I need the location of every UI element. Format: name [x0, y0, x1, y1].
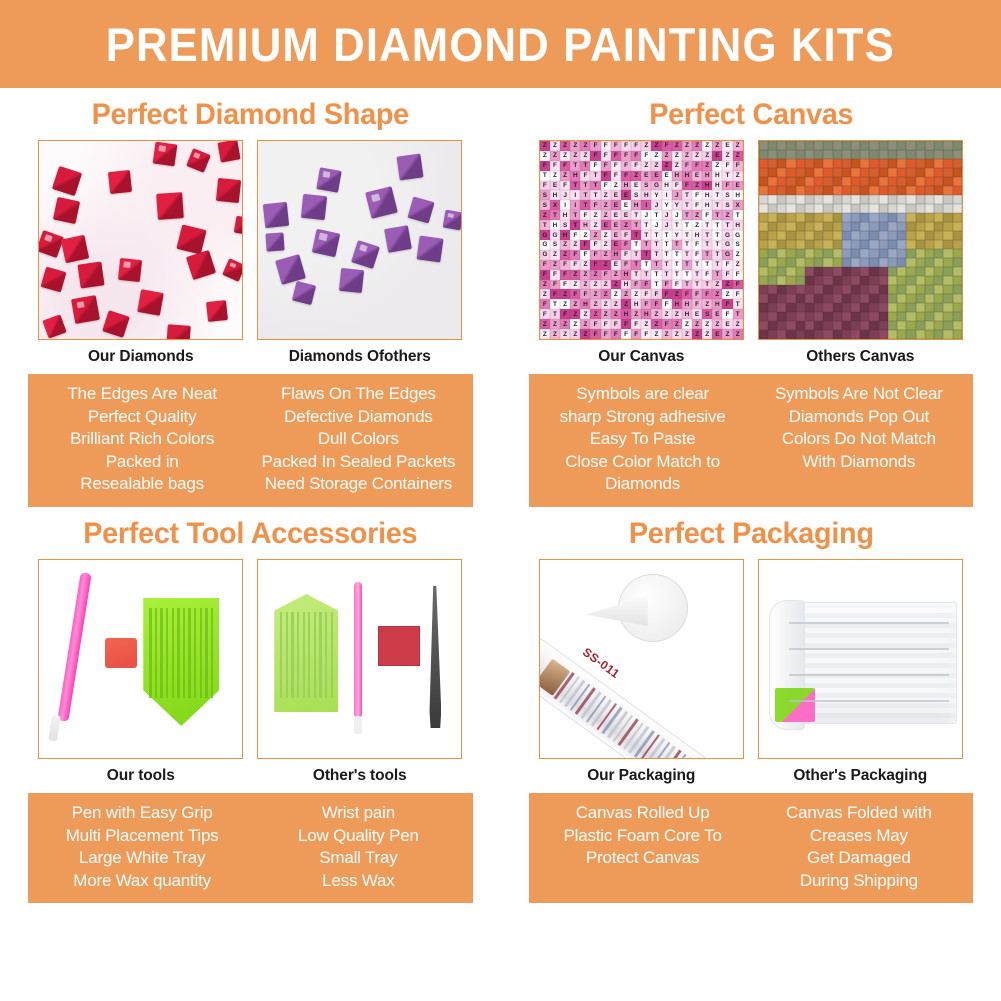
canvas-color-cell	[943, 303, 952, 312]
canvas-symbol-cell: T	[682, 200, 692, 210]
image-pair-tools: Our tools Other's tools	[0, 559, 501, 791]
canvas-color-cell	[925, 186, 934, 195]
canvas-symbol-cell: F	[722, 270, 732, 280]
diamond-drill	[317, 167, 342, 192]
canvas-symbol-cell: F	[631, 329, 641, 339]
diamond-drill	[156, 192, 184, 220]
canvas-color-cell	[842, 204, 851, 213]
canvas-color-cell	[777, 150, 786, 159]
photo-others-diamonds	[257, 140, 462, 340]
canvas-color-cell	[888, 294, 897, 303]
canvas-symbol-cell: T	[540, 171, 550, 181]
canvas-color-cell	[759, 276, 768, 285]
canvas-symbol-cell: H	[631, 200, 641, 210]
canvas-color-cell	[851, 267, 860, 276]
canvas-symbol-cell: T	[651, 280, 661, 290]
canvas-symbol-cell: Z	[692, 141, 702, 151]
canvas-color-cell	[768, 321, 777, 330]
canvas-color-cell	[943, 195, 952, 204]
canvas-symbol-cell: J	[651, 220, 661, 230]
canvas-color-cell	[916, 150, 925, 159]
canvas-symbol-cell: Z	[601, 299, 611, 309]
canvas-color-cell	[879, 159, 888, 168]
bullet-item: Symbols Are Not Clear	[751, 383, 967, 406]
canvas-color-cell	[934, 222, 943, 231]
canvas-color-cell	[786, 195, 795, 204]
canvas-symbol-cell: E	[692, 171, 702, 181]
caption-our-packaging: Our Packaging	[539, 759, 744, 791]
canvas-color-cell	[823, 258, 832, 267]
canvas-color-cell	[860, 222, 869, 231]
tray-groove	[291, 612, 293, 698]
canvas-symbol-cell: Z	[722, 151, 732, 161]
bullet-item: Less Wax	[250, 870, 466, 893]
canvas-color-cell	[842, 177, 851, 186]
canvas-color-cell	[833, 267, 842, 276]
canvas-color-cell	[879, 231, 888, 240]
canvas-color-cell	[888, 312, 897, 321]
canvas-color-cell	[860, 204, 869, 213]
canvas-color-cell	[906, 303, 915, 312]
canvas-color-cell	[869, 240, 878, 249]
canvas-color-cell	[925, 240, 934, 249]
tray-groove	[183, 608, 185, 698]
canvas-symbol-cell: F	[580, 210, 590, 220]
photo-others-canvas	[758, 140, 963, 340]
canvas-symbol-cell: T	[550, 309, 560, 319]
canvas-color-cell	[925, 204, 934, 213]
canvas-color-cell	[897, 231, 906, 240]
canvas-color-cell	[796, 195, 805, 204]
bullet-item: Protect Canvas	[535, 847, 751, 870]
canvas-color-cell	[814, 285, 823, 294]
canvas-symbol-cell: F	[662, 289, 672, 299]
photo-others-packaging	[758, 559, 963, 759]
canvas-symbol-cell: T	[702, 220, 712, 230]
canvas-color-cell	[916, 294, 925, 303]
cell-our-packaging: SS-011 Our Packaging	[539, 559, 744, 791]
bullet-item: Need Storage Containers	[250, 473, 466, 496]
canvas-color-cell	[814, 159, 823, 168]
canvas-color-cell	[796, 312, 805, 321]
canvas-symbol-cell: F	[580, 240, 590, 250]
canvas-symbol-cell: T	[672, 260, 682, 270]
canvas-color-cell	[805, 285, 814, 294]
canvas-color-cell	[842, 186, 851, 195]
canvas-symbol-cell: E	[641, 171, 651, 181]
canvas-symbol-cell: Z	[712, 141, 722, 151]
canvas-symbol-cell: F	[672, 280, 682, 290]
canvas-color-cell	[943, 312, 952, 321]
canvas-color-cell	[768, 303, 777, 312]
canvas-symbol-cell: H	[692, 230, 702, 240]
image-pair-canvas: ZZZZZFFFFFZZFZZZZZEZZZZZZFFFFFFZZZZZZEZZ…	[501, 140, 1001, 372]
canvas-color-cell	[916, 312, 925, 321]
canvas-symbol-cell: F	[540, 299, 550, 309]
bullets-others-diamond-shape: Flaws On The Edges Defective Diamonds Du…	[250, 383, 466, 496]
canvas-color-cell	[823, 312, 832, 321]
canvas-color-cell	[759, 195, 768, 204]
canvas-color-cell	[777, 276, 786, 285]
canvas-color-cell	[777, 195, 786, 204]
canvas-color-cell	[879, 177, 888, 186]
canvas-symbol-cell: Z	[692, 210, 702, 220]
mailer-crease	[789, 648, 949, 650]
canvas-color-cell	[786, 240, 795, 249]
diamond-drill	[292, 281, 316, 305]
bullets-diamond-shape: The Edges Are Neat Perfect Quality Brill…	[28, 374, 473, 507]
canvas-symbol-cell: H	[641, 190, 651, 200]
drill-highlight	[194, 152, 201, 159]
canvas-symbol-cell: F	[540, 161, 550, 171]
canvas-color-cell	[953, 267, 962, 276]
canvas-symbol-cell: H	[580, 299, 590, 309]
canvas-color-cell	[768, 204, 777, 213]
canvas-color-cell	[842, 159, 851, 168]
canvas-symbol-cell: Y	[651, 190, 661, 200]
canvas-symbol-cell: E	[611, 210, 621, 220]
canvas-symbol-cell: T	[682, 250, 692, 260]
canvas-color-cell	[934, 249, 943, 258]
canvas-symbol-cell: H	[682, 299, 692, 309]
canvas-color-cell	[879, 186, 888, 195]
canvas-symbol-cell: E	[712, 329, 722, 339]
canvas-symbol-cell: T	[702, 240, 712, 250]
canvas-symbol-cell: Z	[733, 329, 743, 339]
canvas-symbol-cell: Z	[733, 319, 743, 329]
wax-square	[105, 638, 137, 668]
canvas-color-cell	[906, 294, 915, 303]
canvas-color-cell	[851, 150, 860, 159]
canvas-symbol-cell: Z	[590, 220, 600, 230]
canvas-color-cell	[934, 168, 943, 177]
canvas-color-cell	[805, 312, 814, 321]
canvas-symbol-cell: T	[682, 240, 692, 250]
canvas-symbol-cell: F	[662, 141, 672, 151]
canvas-color-cell	[777, 330, 786, 339]
canvas-symbol-cell: H	[712, 181, 722, 191]
canvas-symbol-cell: E	[631, 181, 641, 191]
canvas-color-cell	[796, 294, 805, 303]
canvas-symbol-cell: H	[621, 181, 631, 191]
canvas-color-cell	[823, 267, 832, 276]
canvas-symbol-cell: Z	[682, 151, 692, 161]
canvas-color-cell	[842, 330, 851, 339]
canvas-symbol-cell: F	[540, 260, 550, 270]
bullets-others-packaging: Canvas Folded with Creases May Get Damag…	[751, 802, 967, 892]
canvas-color-cell	[916, 231, 925, 240]
canvas-symbol-cell: Z	[611, 289, 621, 299]
canvas-color-cell	[888, 321, 897, 330]
canvas-symbol-cell: Z	[611, 299, 621, 309]
canvas-color-cell	[906, 150, 915, 159]
canvas-color-cell	[897, 312, 906, 321]
canvas-color-cell	[869, 312, 878, 321]
canvas-symbol-cell: F	[733, 270, 743, 280]
canvas-symbol-cell: F	[631, 151, 641, 161]
drill-highlight	[319, 233, 327, 241]
canvas-symbol-cell: Z	[550, 151, 560, 161]
canvas-symbol-cell: F	[641, 280, 651, 290]
canvas-symbol-cell: H	[631, 299, 641, 309]
tray-groove	[280, 612, 282, 698]
canvas-color-cell	[759, 249, 768, 258]
canvas-symbol-cell: F	[560, 161, 570, 171]
canvas-symbol-cell: Z	[590, 270, 600, 280]
canvas-color-cell	[916, 321, 925, 330]
canvas-color-cell	[814, 213, 823, 222]
canvas-symbol-cell: Z	[733, 141, 743, 151]
canvas-symbol-cell: F	[560, 280, 570, 290]
canvas-color-cell	[934, 150, 943, 159]
drill-highlight	[323, 171, 330, 178]
canvas-symbol-cell: H	[611, 250, 621, 260]
canvas-symbol-cell: F	[570, 289, 580, 299]
canvas-color-cell	[777, 159, 786, 168]
drill-highlight	[359, 244, 367, 252]
caption-others-tools: Other's tools	[257, 759, 462, 791]
canvas-color-cell	[943, 267, 952, 276]
canvas-symbol-cell: F	[641, 151, 651, 161]
canvas-symbol-cell: F	[560, 309, 570, 319]
canvas-symbol-cell: F	[621, 319, 631, 329]
canvas-symbol-cell: E	[621, 200, 631, 210]
canvas-color-cell	[833, 159, 842, 168]
canvas-color-cell	[833, 222, 842, 231]
canvas-symbol-cell: F	[570, 230, 580, 240]
canvas-symbol-cell: T	[570, 181, 580, 191]
canvas-color-cell	[759, 267, 768, 276]
canvas-color-cell	[879, 240, 888, 249]
cell-our-canvas: ZZZZZFFFFFZZFZZZZZEZZZZZZFFFFFFZZZZZZEZZ…	[539, 140, 744, 372]
canvas-color-cell	[777, 213, 786, 222]
canvas-color-cell	[777, 303, 786, 312]
canvas-color-cell	[805, 267, 814, 276]
canvas-symbol-cell: F	[540, 181, 550, 191]
canvas-color-cell	[851, 321, 860, 330]
canvas-color-cell	[869, 303, 878, 312]
canvas-color-cell	[851, 312, 860, 321]
canvas-color-cell	[888, 285, 897, 294]
bullet-item: Creases May	[751, 825, 967, 848]
canvas-color-cell	[796, 168, 805, 177]
diamond-drill	[61, 235, 89, 263]
canvas-color-cell	[796, 222, 805, 231]
canvas-color-cell	[916, 159, 925, 168]
diamond-drill	[234, 216, 243, 236]
canvas-color-cell	[869, 141, 878, 150]
section-packaging: Perfect Packaging SS-011 Our Packaging O…	[501, 507, 1001, 903]
canvas-color-cell	[860, 312, 869, 321]
canvas-color-cell	[851, 276, 860, 285]
canvas-color-cell	[851, 168, 860, 177]
rolled-canvas-tube	[539, 630, 726, 759]
tray-groove	[160, 608, 162, 698]
canvas-color-cell	[879, 267, 888, 276]
canvas-symbol-cell: T	[712, 190, 722, 200]
drill-highlight	[371, 193, 381, 202]
canvas-symbol-cell: Z	[540, 141, 550, 151]
canvas-color-cell	[823, 177, 832, 186]
canvas-symbol-cell: F	[651, 299, 661, 309]
canvas-color-cell	[869, 168, 878, 177]
canvas-color-cell	[786, 168, 795, 177]
canvas-color-cell	[833, 321, 842, 330]
header-banner: PREMIUM DIAMOND PAINTING KITS	[0, 0, 1001, 88]
canvas-color-cell	[934, 141, 943, 150]
canvas-color-cell	[805, 186, 814, 195]
canvas-symbol-cell: Z	[590, 299, 600, 309]
canvas-symbol-cell: Z	[651, 309, 661, 319]
canvas-color-cell	[786, 330, 795, 339]
canvas-color-cell	[916, 195, 925, 204]
diamond-drill	[78, 261, 105, 288]
canvas-symbol-cell: T	[641, 230, 651, 240]
canvas-symbol-cell: F	[733, 280, 743, 290]
canvas-symbol-cell: Z	[641, 319, 651, 329]
canvas-symbol-cell: I	[641, 200, 651, 210]
cell-others-packaging: Other's Packaging	[758, 559, 963, 791]
canvas-symbol-cell: F	[590, 250, 600, 260]
canvas-color-cell	[888, 267, 897, 276]
canvas-symbol-cell: T	[641, 220, 651, 230]
canvas-symbol-cell: F	[692, 289, 702, 299]
canvas-symbol-cell: F	[682, 181, 692, 191]
canvas-symbol-cell: Z	[662, 151, 672, 161]
canvas-symbol-cell: F	[601, 151, 611, 161]
tray-groove	[331, 612, 333, 698]
canvas-color-cell	[934, 330, 943, 339]
canvas-color-grid	[759, 141, 962, 339]
canvas-color-cell	[759, 186, 768, 195]
canvas-color-cell	[768, 150, 777, 159]
canvas-symbol-cell: F	[560, 181, 570, 191]
canvas-color-cell	[897, 204, 906, 213]
canvas-symbol-cell: F	[590, 319, 600, 329]
canvas-symbol-cell: Z	[601, 210, 611, 220]
bullets-ours-diamond-shape: The Edges Are Neat Perfect Quality Brill…	[34, 383, 250, 496]
canvas-symbol-cell: F	[590, 329, 600, 339]
canvas-symbol-cell: Z	[560, 141, 570, 151]
canvas-symbol-cell: I	[570, 190, 580, 200]
canvas-color-cell	[906, 249, 915, 258]
canvas-color-cell	[833, 285, 842, 294]
canvas-symbol-cell: F	[651, 289, 661, 299]
tray-groove	[188, 608, 190, 698]
bullet-item: Multi Placement Tips	[34, 825, 250, 848]
bullet-item: With Diamonds	[751, 451, 967, 474]
diamond-drill	[71, 295, 100, 324]
canvas-color-cell	[759, 168, 768, 177]
canvas-color-cell	[860, 258, 869, 267]
diamond-drill	[153, 142, 178, 167]
canvas-symbol-cell: T	[631, 250, 641, 260]
canvas-symbol-cell: Z	[682, 319, 692, 329]
canvas-symbol-cell: H	[682, 171, 692, 181]
canvas-color-cell	[759, 222, 768, 231]
canvas-symbol-cell: Z	[662, 309, 672, 319]
canvas-symbol-cell: Z	[580, 329, 590, 339]
canvas-color-cell	[833, 195, 842, 204]
bullets-tool-accessories: Pen with Easy Grip Multi Placement Tips …	[28, 793, 473, 903]
tray-groove	[319, 612, 321, 698]
canvas-color-cell	[953, 159, 962, 168]
diamond-drill	[384, 225, 412, 253]
canvas-color-cell	[953, 312, 962, 321]
canvas-symbol-cell: T	[682, 280, 692, 290]
canvas-color-cell	[860, 186, 869, 195]
canvas-symbol-cell: F	[570, 250, 580, 260]
canvas-symbol-cell: J	[560, 190, 570, 200]
canvas-symbol-cell: E	[611, 230, 621, 240]
canvas-symbol-cell: S	[702, 309, 712, 319]
canvas-symbol-cell: Z	[540, 210, 550, 220]
canvas-color-cell	[842, 141, 851, 150]
tube-cap-nose	[586, 596, 648, 626]
canvas-color-cell	[851, 231, 860, 240]
canvas-symbol-cell: Z	[580, 260, 590, 270]
canvas-color-cell	[934, 267, 943, 276]
canvas-color-cell	[851, 222, 860, 231]
canvas-color-cell	[851, 258, 860, 267]
canvas-color-cell	[759, 294, 768, 303]
section-diamond-shape: Perfect Diamond Shape Our Diamonds Diamo…	[0, 88, 501, 507]
canvas-color-cell	[786, 321, 795, 330]
canvas-symbol-cell: T	[641, 270, 651, 280]
canvas-color-cell	[814, 303, 823, 312]
canvas-color-cell	[833, 213, 842, 222]
canvas-symbol-cell: H	[672, 299, 682, 309]
canvas-color-cell	[925, 321, 934, 330]
diamond-drill	[408, 196, 435, 223]
bullet-item: Easy To Paste	[535, 428, 751, 451]
canvas-symbol-cell: F	[702, 210, 712, 220]
canvas-color-cell	[823, 321, 832, 330]
tray-groove	[303, 612, 305, 698]
canvas-color-cell	[805, 213, 814, 222]
canvas-color-cell	[777, 240, 786, 249]
canvas-symbol-cell: T	[651, 210, 661, 220]
canvas-symbol-cell: T	[570, 161, 580, 171]
canvas-color-cell	[916, 177, 925, 186]
canvas-color-cell	[897, 177, 906, 186]
canvas-color-cell	[768, 312, 777, 321]
canvas-color-cell	[925, 231, 934, 240]
canvas-symbol-cell: F	[621, 161, 631, 171]
canvas-color-cell	[879, 150, 888, 159]
canvas-symbol-cell: Z	[550, 171, 560, 181]
canvas-color-cell	[768, 285, 777, 294]
tweezers	[428, 586, 441, 728]
canvas-color-cell	[814, 168, 823, 177]
canvas-symbol-cell: F	[560, 270, 570, 280]
canvas-symbol-cell: F	[601, 161, 611, 171]
canvas-color-cell	[860, 213, 869, 222]
canvas-symbol-cell: F	[611, 161, 621, 171]
canvas-symbol-cell: Z	[570, 329, 580, 339]
canvas-symbol-cell: Z	[722, 280, 732, 290]
bullet-item: Dull Colors	[250, 428, 466, 451]
canvas-symbol-cell: S	[550, 240, 560, 250]
canvas-color-cell	[860, 294, 869, 303]
canvas-symbol-cell: H	[550, 220, 560, 230]
diamond-drill	[137, 289, 164, 316]
canvas-symbol-cell: Z	[601, 240, 611, 250]
canvas-color-cell	[943, 330, 952, 339]
canvas-symbol-cell: Z	[540, 329, 550, 339]
canvas-color-cell	[851, 195, 860, 204]
canvas-symbol-cell: T	[590, 190, 600, 200]
